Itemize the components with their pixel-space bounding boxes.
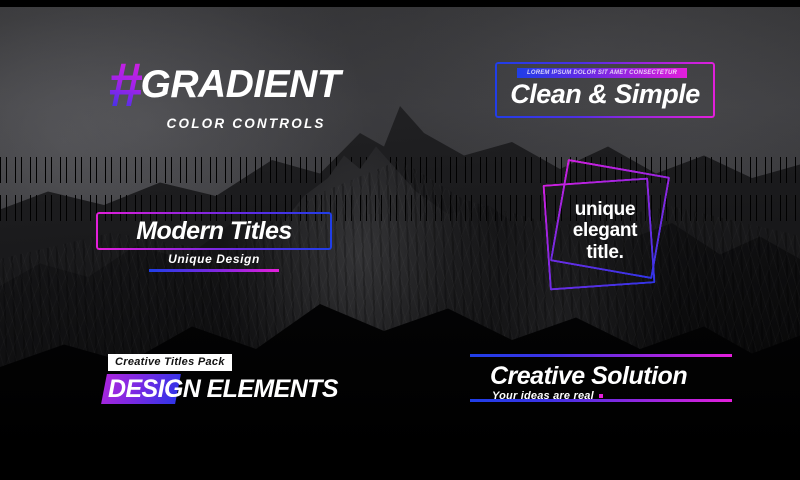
gradient-heading: GRADIENT: [140, 65, 340, 104]
gradient-title-group[interactable]: # GRADIENT COLOR CONTROLS: [108, 57, 340, 131]
gradient-title-row: # GRADIENT: [108, 57, 340, 112]
creative-solution-group[interactable]: Creative Solution Your ideas are real: [470, 354, 732, 402]
title-pack-preview-stage: # GRADIENT COLOR CONTROLS Lorem ipsum do…: [0, 0, 800, 480]
creative-rule-top: [470, 354, 732, 357]
creative-rule-bottom: [470, 399, 732, 402]
modern-subheading: Unique Design: [96, 252, 332, 266]
square-line-1: unique: [550, 199, 660, 220]
clean-simple-title-group[interactable]: Lorem ipsum dolor sit amet consectetur C…: [495, 62, 715, 118]
design-heading-row: DESIGN ELEMENTS: [108, 374, 328, 404]
magenta-dot-icon: [599, 394, 603, 398]
square-line-3: title.: [550, 242, 660, 263]
clean-heading: Clean & Simple: [495, 79, 715, 110]
design-heading: DESIGN ELEMENTS: [108, 374, 338, 404]
modern-titles-group[interactable]: Modern Titles: [96, 212, 332, 250]
gradient-subheading: COLOR CONTROLS: [108, 116, 340, 131]
unique-elegant-title-group[interactable]: unique elegant title.: [540, 163, 680, 305]
clean-tagline: Lorem ipsum dolor sit amet consectetur: [517, 68, 687, 78]
modern-gradient-underline: [149, 269, 279, 272]
creative-heading: Creative Solution: [490, 362, 687, 391]
letterbox-top: [0, 0, 800, 7]
hashtag-icon: #: [108, 61, 142, 112]
design-elements-group[interactable]: Creative Titles Pack DESIGN ELEMENTS: [108, 352, 328, 404]
square-line-2: elegant: [550, 220, 660, 241]
modern-heading: Modern Titles: [96, 217, 332, 246]
modern-subheading-group: Unique Design: [96, 252, 332, 272]
square-heading: unique elegant title.: [550, 199, 660, 263]
letterbox-bottom: [0, 457, 800, 480]
design-badge: Creative Titles Pack: [108, 354, 232, 371]
